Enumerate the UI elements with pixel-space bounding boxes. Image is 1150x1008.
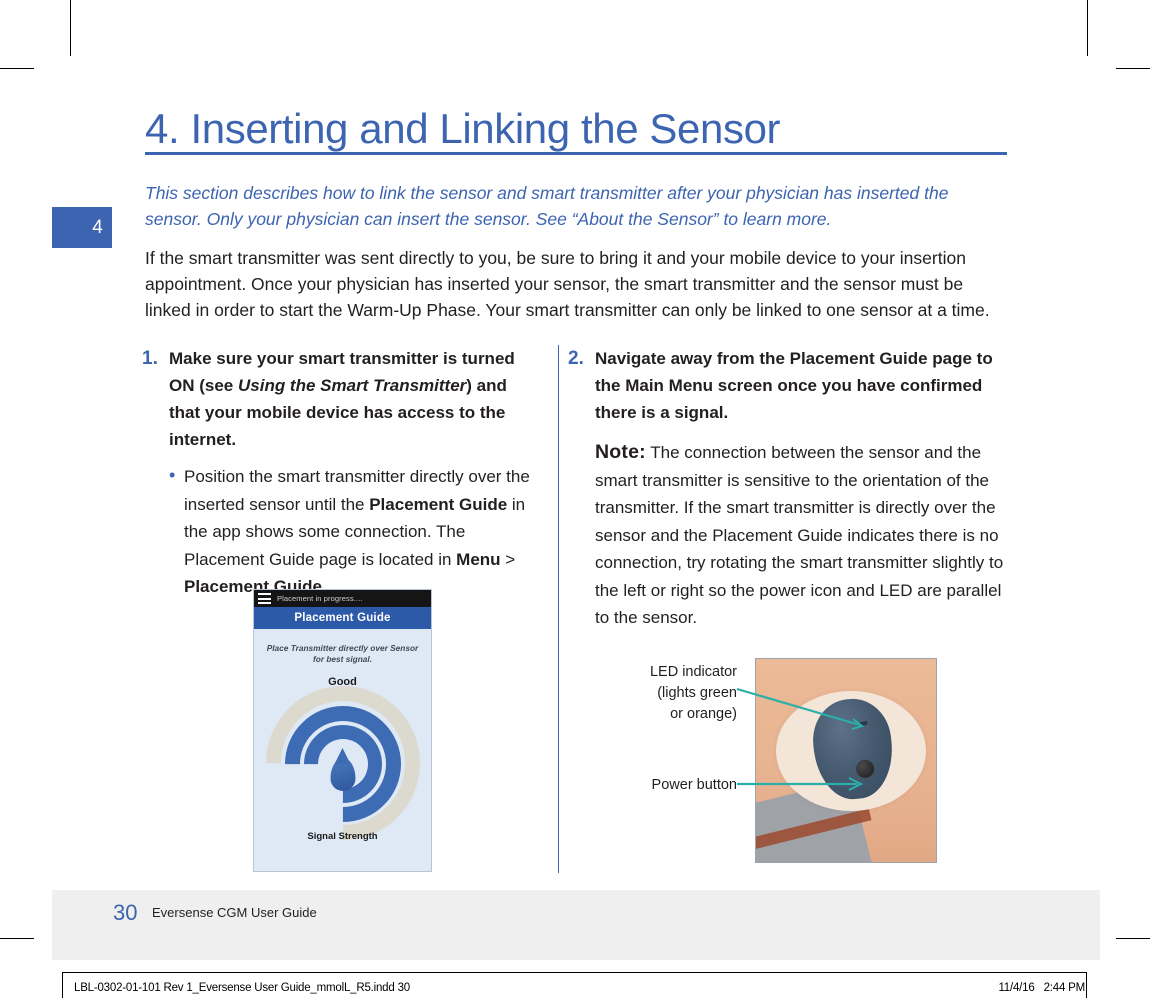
page-title-text: Inserting and Linking the Sensor [191, 105, 781, 152]
slug-tick-right [1086, 972, 1087, 998]
page-title: 4. Inserting and Linking the Sensor [145, 104, 1007, 154]
leader-line-led [737, 689, 860, 725]
crop-mark-left-bottom [0, 938, 34, 939]
slug-rule [62, 972, 1086, 973]
step-1-number: 1. [142, 345, 158, 372]
right-column: 2. Navigate away from the Placement Guid… [568, 345, 1013, 632]
footer-guide-title: Eversense CGM User Guide [152, 905, 317, 920]
crop-mark-top-left [70, 0, 71, 56]
phone-instruction-text: Place Transmitter directly over Sensor f… [264, 643, 421, 665]
print-slug-filename: LBL-0302-01-101 Rev 1_Eversense User Gui… [74, 982, 410, 994]
crop-mark-right-bottom [1116, 938, 1150, 939]
slug-tick-left [62, 972, 63, 998]
step-1: 1. Make sure your smart transmitter is t… [142, 345, 542, 601]
phone-title-bar: Placement Guide [254, 607, 431, 629]
footer-page-number: 30 [113, 900, 137, 926]
note-text: The connection between the sensor and th… [595, 443, 1003, 627]
crop-mark-top-right [1087, 0, 1088, 56]
step-1-bullet-list: •Position the smart transmitter directly… [169, 463, 542, 601]
crop-mark-right-top [1116, 68, 1150, 69]
step-1-text: Make sure your smart transmitter is turn… [169, 345, 542, 453]
chapter-tab-number: 4 [92, 217, 103, 239]
signal-drop-icon [330, 758, 355, 791]
document-page: 4 4. Inserting and Linking the Sensor Th… [0, 0, 1150, 1008]
print-slug-time: 2:44 PM [1044, 982, 1085, 994]
note-block: Note: The connection between the sensor … [595, 439, 1013, 632]
section-intro: This section describes how to link the s… [145, 180, 1010, 232]
callout-led-line3: or orange) [612, 704, 737, 725]
bullet-part3: > [501, 550, 516, 569]
phone-status-bar: Placement in progress.... [254, 590, 431, 607]
bullet-bold-menu: Menu [456, 550, 500, 569]
callout-leader-lines [735, 655, 875, 805]
hamburger-menu-icon[interactable] [258, 593, 271, 604]
section-body-paragraph: If the smart transmitter was sent direct… [145, 245, 995, 323]
page-title-number: 4. [145, 105, 179, 152]
footer-bar [52, 890, 1100, 960]
step-2-text: Navigate away from the Placement Guide p… [595, 345, 1013, 426]
callout-led-line2: (lights green [612, 683, 737, 704]
callout-power-button: Power button [612, 775, 737, 796]
list-item: •Position the smart transmitter directly… [169, 463, 542, 601]
bullet-bold-placement-guide: Placement Guide [369, 495, 507, 514]
phone-title-text: Placement Guide [294, 612, 390, 624]
crop-mark-left-top [0, 68, 34, 69]
bullet-dot-icon: • [169, 462, 175, 490]
phone-screenshot-placement-guide: Placement in progress.... Placement Guid… [253, 589, 432, 872]
note-label: Note: [595, 441, 646, 463]
phone-signal-strength-label: Signal Strength [254, 831, 431, 842]
column-divider [558, 345, 559, 873]
title-underline [145, 152, 1007, 155]
phone-status-text: Placement in progress.... [277, 594, 362, 603]
print-slug-timestamp: 11/4/16 2:44 PM [998, 982, 1085, 994]
step-1-text-italic: Using the Smart Transmitter [238, 376, 466, 395]
signal-strength-graphic [254, 692, 431, 822]
print-slug-date: 11/4/16 [998, 982, 1034, 994]
phone-body: Place Transmitter directly over Sensor f… [254, 629, 431, 872]
left-column: 1. Make sure your smart transmitter is t… [142, 345, 542, 601]
callout-led-indicator: LED indicator (lights green or orange) [612, 662, 737, 725]
chapter-tab: 4 [52, 207, 112, 248]
callout-led-line1: LED indicator [612, 662, 737, 683]
step-2: 2. Navigate away from the Placement Guid… [568, 345, 1013, 632]
step-2-number: 2. [568, 345, 584, 372]
